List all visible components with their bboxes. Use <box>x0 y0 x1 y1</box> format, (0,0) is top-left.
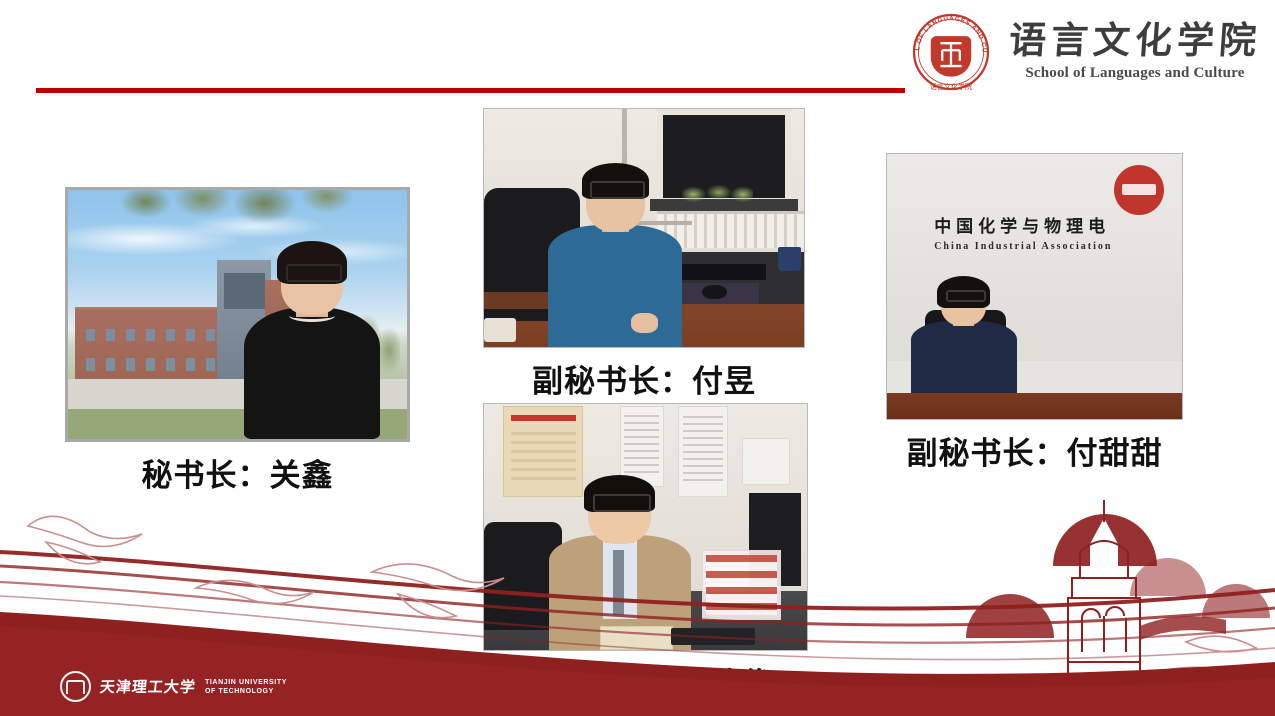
person-card-wang-dejun: 副秘书长：王德俊 <box>483 403 808 704</box>
person-caption-wang-dejun: 副秘书长：王德俊 <box>483 659 808 704</box>
ciaps-logo-icon <box>1114 165 1164 215</box>
wall-text-cn: 中国化学与物理电 <box>934 212 1176 237</box>
person-caption-guan-xin: 秘书长：关鑫 <box>65 450 410 495</box>
person-card-fu-yu: 副秘书长：付昱 <box>483 108 805 401</box>
person-photo-fu-yu <box>483 108 805 348</box>
svg-text:语言文化学院: 语言文化学院 <box>930 82 972 91</box>
university-name-cn: 天津理工大学 <box>99 676 197 697</box>
tianjin-university-seal-icon <box>60 671 91 702</box>
header-divider-rule <box>36 88 905 93</box>
person-photo-wang-dejun <box>483 403 808 651</box>
person-photo-guan-xin <box>65 187 410 442</box>
person-caption-fu-yu: 副秘书长：付昱 <box>483 356 805 401</box>
person-caption-fu-tiantian: 副秘书长：付甜甜 <box>886 428 1183 473</box>
university-logo-block: 天津理工大学 TIANJIN UNIVERSITY OF TECHNOLOGY <box>60 671 287 702</box>
clock-tower-illustration <box>966 500 1270 716</box>
person-card-fu-tiantian: 中国化学与物理电 China Industrial Association 副秘… <box>886 153 1183 473</box>
university-name-en-line2: OF TECHNOLOGY <box>205 687 287 696</box>
school-name-cn: 语言文化学院 <box>1008 23 1263 60</box>
person-card-guan-xin: 秘书长：关鑫 <box>65 187 410 495</box>
school-seal-icon: SCHOOL OF LANGUAGES AND CULTURE 语言文化学院 <box>907 8 995 96</box>
school-logo-block: SCHOOL OF LANGUAGES AND CULTURE 语言文化学院 语… <box>907 8 1261 96</box>
wall-text-en: China Industrial Association <box>934 241 1176 252</box>
university-name-en-line1: TIANJIN UNIVERSITY <box>205 678 287 687</box>
school-name-en: School of Languages and Culture <box>1025 66 1244 81</box>
presentation-slide: SCHOOL OF LANGUAGES AND CULTURE 语言文化学院 语… <box>0 0 1275 716</box>
person-photo-fu-tiantian: 中国化学与物理电 China Industrial Association <box>886 153 1183 420</box>
